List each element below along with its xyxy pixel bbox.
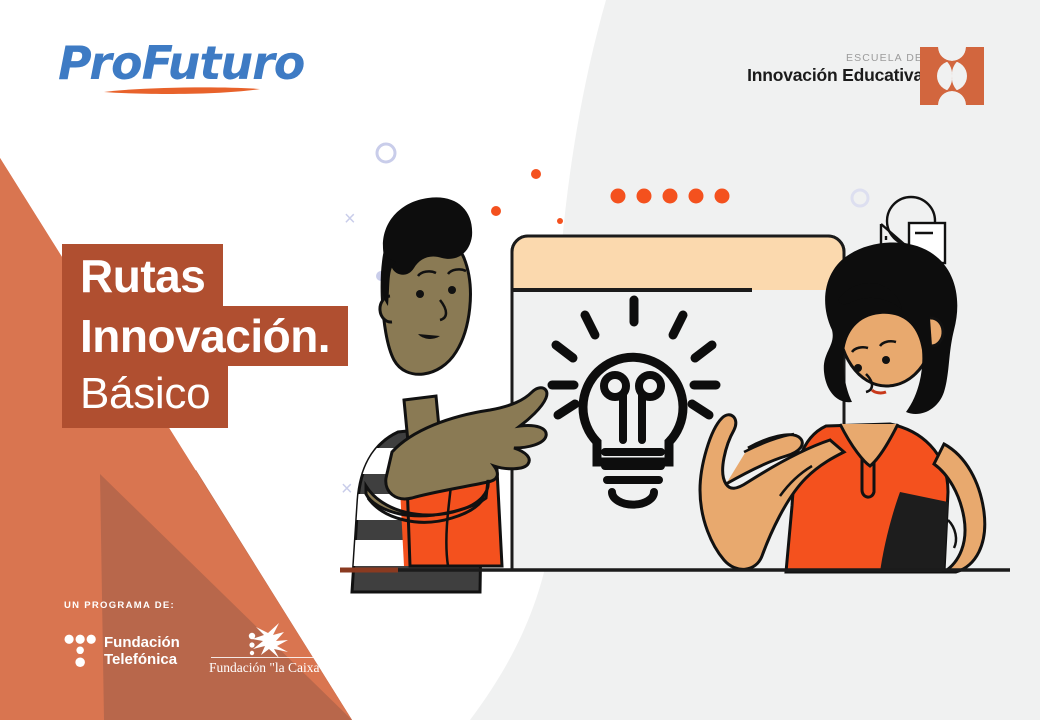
escuela-title: Innovación Educativa [747,65,923,86]
escuela-eyebrow: ESCUELA DE [747,52,923,65]
telefonica-line-2: Telefónica [104,651,180,668]
programa-block: UN PROGRAMA DE: Fundación Telefónica [64,600,364,690]
profuturo-wordmark: ProFuturo [58,38,288,88]
sponsor-row: Fundación Telefónica Fundación "la Caixa… [64,624,324,680]
title-stack: Rutas Innovación. Básico [62,244,348,428]
lacaixa-rule [211,657,322,658]
sponsor-telefonica[interactable]: Fundación Telefónica [64,632,189,680]
lacaixa-star-icon [209,622,324,658]
profuturo-swoosh-icon [102,86,262,95]
page-title-line-3: Básico [62,366,228,428]
escuela-text-block: ESCUELA DE Innovación Educativa [747,52,923,86]
escuela-x-mark-icon [916,45,988,107]
lacaixa-wordmark: Fundación "la Caixa" [209,660,324,675]
sponsor-lacaixa[interactable]: Fundación "la Caixa" [209,624,324,680]
telefonica-dots-t-icon [64,634,98,670]
escuela-innovacion-lockup[interactable]: ESCUELA DE Innovación Educativa [755,48,985,110]
title-row-2: Innovación. [62,306,348,366]
page-title-line-2: Innovación. [62,306,348,366]
telefonica-wordmark: Fundación Telefónica [104,634,180,668]
title-row-3: Básico [62,366,348,428]
telefonica-line-1: Fundación [104,634,180,651]
slide-canvas: × × × [0,0,1040,720]
programa-label: UN PROGRAMA DE: [64,600,364,612]
profuturo-logo[interactable]: ProFuturo [58,38,288,100]
page-title-line-1: Rutas [62,244,223,306]
title-row-1: Rutas [62,244,348,306]
